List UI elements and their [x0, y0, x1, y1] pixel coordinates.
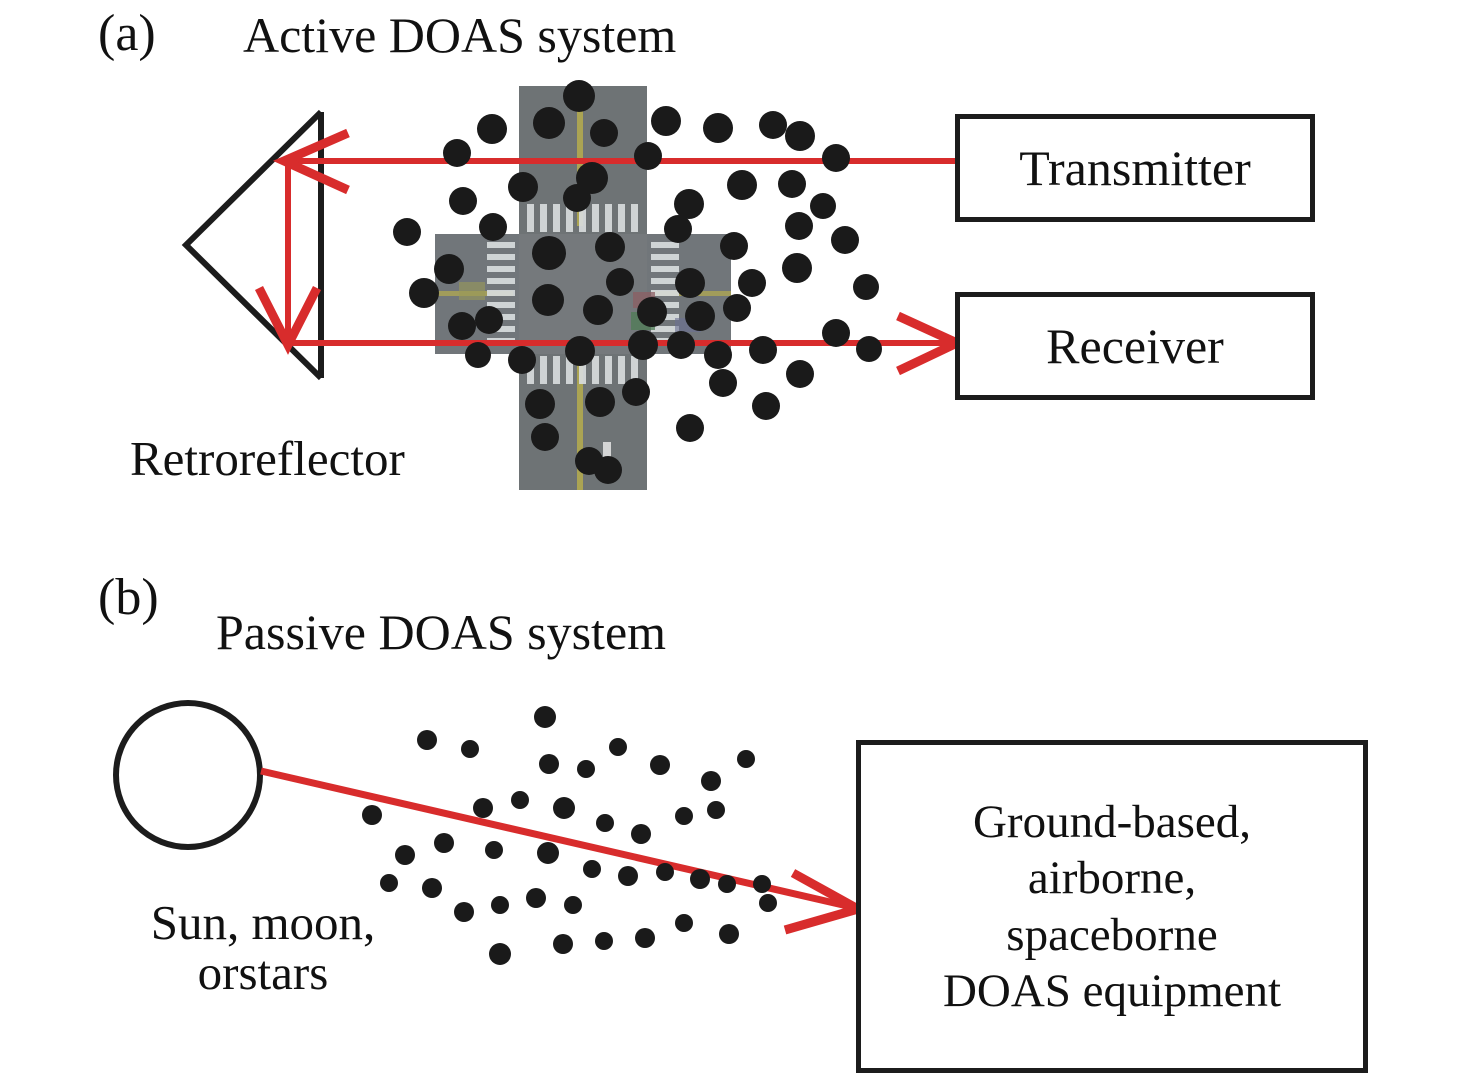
pollutant-particle-icon: [631, 824, 651, 844]
pollutant-particle-icon: [618, 866, 638, 886]
pollutant-particle-icon: [489, 943, 511, 965]
pollutant-particle-icon: [675, 914, 693, 932]
instrument-line-2: spaceborne: [943, 907, 1281, 963]
pollutant-particle-icon: [690, 869, 710, 889]
pollutant-particle-icon: [718, 875, 736, 893]
pollutant-particle-icon: [395, 845, 415, 865]
retroreflector-label: Retroreflector: [130, 434, 405, 484]
pollutant-particle-icon: [609, 738, 627, 756]
pollutant-particle-cloud-b: [362, 706, 777, 965]
pollutant-particle-icon: [785, 212, 813, 240]
pollutant-particle-icon: [511, 791, 529, 809]
pollutant-particle-icon: [577, 760, 595, 778]
pollutant-particle-icon: [656, 863, 674, 881]
instrument-line-0: Ground-based,: [943, 794, 1281, 850]
pollutant-particle-icon: [650, 755, 670, 775]
pollutant-particle-icon: [822, 144, 850, 172]
pollutant-particle-icon: [707, 801, 725, 819]
pollutant-particle-icon: [393, 218, 421, 246]
pollutant-particle-icon: [737, 750, 755, 768]
pollutant-particle-icon: [454, 902, 474, 922]
pollutant-particle-icon: [417, 730, 437, 750]
pollutant-particle-icon: [526, 888, 546, 908]
instrument-line-3: DOAS equipment: [943, 963, 1281, 1019]
triangle-prism-icon: [186, 112, 321, 378]
transmitter-box[interactable]: Transmitter: [955, 114, 1315, 222]
pollutant-particle-icon: [822, 319, 850, 347]
receiver-label: Receiver: [1046, 317, 1224, 375]
pollutant-particle-icon: [675, 807, 693, 825]
pollutant-particle-icon: [785, 121, 815, 151]
pollutant-particle-icon: [782, 253, 812, 283]
source-label-line2: orstars: [118, 948, 408, 998]
doas-figure: (a) Active DOAS system: [0, 0, 1476, 1083]
aerial-intersection-image: [435, 86, 731, 490]
pollutant-particle-icon: [583, 860, 601, 878]
pollutant-particle-icon: [485, 841, 503, 859]
pollutant-particle-icon: [738, 269, 766, 297]
pollutant-particle-icon: [434, 833, 454, 853]
pollutant-particle-icon: [786, 360, 814, 388]
source-label-line1: Sun, moon,: [118, 898, 408, 948]
pollutant-particle-icon: [831, 226, 859, 254]
pollutant-particle-icon: [422, 878, 442, 898]
pollutant-particle-icon: [539, 754, 559, 774]
pollutant-particle-icon: [719, 924, 739, 944]
transmitter-label: Transmitter: [1019, 139, 1251, 197]
receiver-box[interactable]: Receiver: [955, 292, 1315, 400]
pollutant-particle-icon: [635, 928, 655, 948]
panel-a-tag: (a): [98, 8, 156, 60]
pollutant-particle-icon: [752, 392, 780, 420]
sun-circle-icon: [116, 703, 260, 847]
pollutant-particle-icon: [534, 706, 556, 728]
panel-a-title: Active DOAS system: [243, 10, 676, 60]
pollutant-particle-icon: [759, 894, 777, 912]
pollutant-particle-icon: [553, 934, 573, 954]
pollutant-particle-icon: [749, 336, 777, 364]
pollutant-particle-icon: [810, 193, 836, 219]
pollutant-particle-icon: [753, 875, 771, 893]
pollutant-particle-icon: [596, 814, 614, 832]
source-label: Sun, moon, orstars: [118, 898, 408, 998]
instrument-line-1: airborne,: [943, 850, 1281, 906]
pollutant-particle-icon: [727, 170, 757, 200]
pollutant-particle-icon: [473, 798, 493, 818]
pollutant-particle-icon: [380, 874, 398, 892]
pollutant-particle-icon: [564, 896, 582, 914]
pollutant-particle-icon: [778, 170, 806, 198]
instrument-label: Ground-based, airborne, spaceborne DOAS …: [943, 794, 1281, 1020]
pollutant-particle-icon: [461, 740, 479, 758]
beam-arrow-down-icon: [259, 161, 317, 345]
pollutant-particle-icon: [537, 842, 559, 864]
pollutant-particle-icon: [362, 805, 382, 825]
instrument-box[interactable]: Ground-based, airborne, spaceborne DOAS …: [856, 740, 1368, 1073]
pollutant-particle-icon: [701, 771, 721, 791]
pollutant-particle-icon: [759, 111, 787, 139]
pollutant-particle-icon: [491, 896, 509, 914]
pollutant-particle-icon: [853, 274, 879, 300]
panel-b-tag: (b): [98, 572, 159, 624]
pollutant-particle-icon: [856, 336, 882, 362]
panel-b-title: Passive DOAS system: [216, 607, 666, 657]
pollutant-particle-icon: [553, 797, 575, 819]
pollutant-particle-icon: [595, 932, 613, 950]
